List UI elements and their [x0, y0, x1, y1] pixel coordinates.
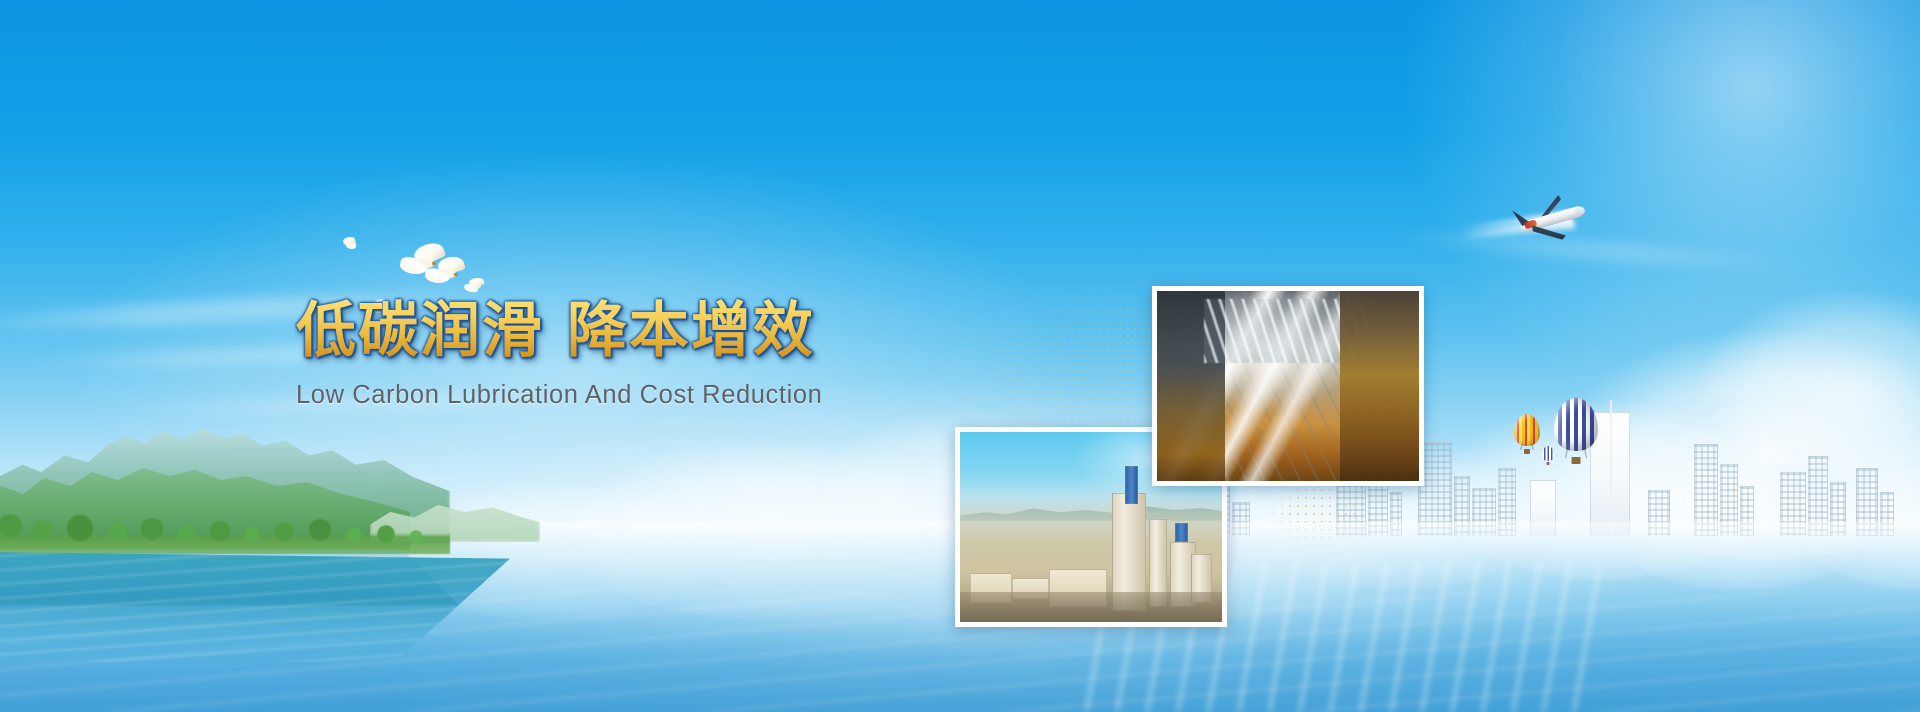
airplane-icon	[1511, 187, 1591, 251]
balloon-envelope	[1542, 446, 1554, 461]
dove-icon	[342, 236, 360, 250]
balloon-rope	[1520, 444, 1522, 450]
balloon-rope	[1584, 448, 1587, 458]
balloon-basket	[1572, 457, 1581, 464]
duct	[1175, 523, 1188, 542]
balloon-rope	[1565, 448, 1568, 458]
sun-glow	[1380, 0, 1920, 400]
photo-steel-mill-image	[1157, 291, 1419, 481]
balloon-rope	[1531, 444, 1533, 450]
hot-air-balloon-large	[1554, 398, 1598, 464]
hot-air-balloon-medium	[1514, 414, 1540, 454]
dove-icon	[462, 276, 486, 294]
balloon-basket	[1524, 449, 1530, 454]
dove-icon	[424, 258, 464, 290]
dove-wing-lower	[345, 242, 356, 250]
dove-wing-lower	[424, 267, 451, 285]
hero-text-block: 低碳润滑 降本增效 Low Carbon Lubrication And Cos…	[296, 296, 996, 410]
tree-line	[0, 510, 450, 554]
balloon-basket	[1547, 462, 1550, 465]
plant-ground	[960, 592, 1222, 622]
hot-air-balloon-small	[1542, 446, 1554, 465]
duct	[1125, 466, 1138, 504]
mountain-island	[0, 412, 540, 572]
page-subtitle: Low Carbon Lubrication And Cost Reductio…	[296, 381, 996, 410]
balloon-envelope	[1514, 414, 1540, 446]
tower-spire	[1610, 400, 1612, 536]
balloon-envelope	[1554, 398, 1598, 451]
photo-steel-mill	[1152, 286, 1424, 486]
page-title: 低碳润滑 降本增效	[296, 296, 996, 367]
cloud-streak	[1380, 225, 1800, 274]
mill-machinery-right	[1340, 291, 1419, 481]
hero-banner: 低碳润滑 降本增效 Low Carbon Lubrication And Cos…	[0, 0, 1920, 712]
dove-beak	[454, 273, 458, 276]
airplane-nose	[1574, 206, 1586, 217]
